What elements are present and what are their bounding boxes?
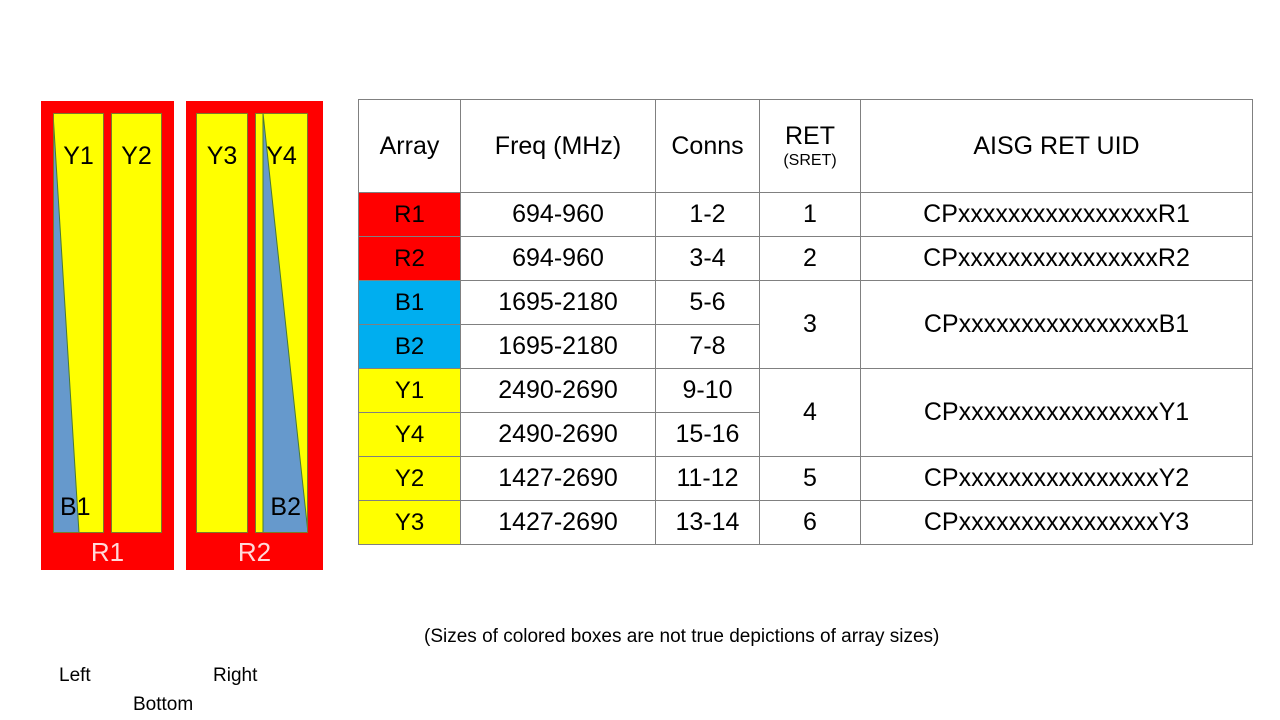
cell-conns: 7-8: [656, 325, 760, 369]
cell-conns: 9-10: [656, 369, 760, 413]
column-header-freq: Freq (MHz): [461, 100, 656, 193]
cell-ret: 2: [760, 237, 861, 281]
cell-conns: 11-12: [656, 457, 760, 501]
column-header-freq-label: Freq (MHz): [495, 132, 621, 160]
array-label-y1: Y1: [54, 144, 103, 169]
array-label-b1: B1: [60, 495, 91, 520]
cell-conns: 15-16: [656, 413, 760, 457]
array-label-y2: Y2: [112, 144, 161, 169]
column-header-array: Array: [359, 100, 461, 193]
array-column-y1: Y1 B1: [53, 113, 104, 533]
antenna-array-diagram: Y1 B1 Y2 R1 Y3 Y4 B2 R2: [41, 101, 323, 570]
b2-triangle-shape: [255, 113, 308, 533]
aisg-ret-uid-table: Array Freq (MHz) Conns RET (SRET) AISG R…: [358, 99, 1253, 545]
cell-freq: 2490-2690: [461, 413, 656, 457]
cell-uid: CPxxxxxxxxxxxxxxxxY1: [861, 369, 1253, 457]
table-row: Y21427-269011-125CPxxxxxxxxxxxxxxxxY2: [359, 457, 1253, 501]
orientation-label-left: Left: [59, 665, 91, 687]
cell-conns: 3-4: [656, 237, 760, 281]
cell-freq: 1427-2690: [461, 501, 656, 545]
cell-uid: CPxxxxxxxxxxxxxxxxR1: [861, 193, 1253, 237]
table-header-row: Array Freq (MHz) Conns RET (SRET) AISG R…: [359, 100, 1253, 193]
cell-freq: 1695-2180: [461, 281, 656, 325]
cell-conns: 13-14: [656, 501, 760, 545]
cell-freq: 2490-2690: [461, 369, 656, 413]
cell-freq: 694-960: [461, 193, 656, 237]
column-header-uid-label: AISG RET UID: [973, 132, 1139, 160]
column-header-conns-label: Conns: [671, 132, 743, 160]
array-column-y2: Y2: [111, 113, 162, 533]
column-header-uid: AISG RET UID: [861, 100, 1253, 193]
b1-triangle-shape: [53, 113, 104, 533]
cell-uid: CPxxxxxxxxxxxxxxxxR2: [861, 237, 1253, 281]
orientation-label-right: Right: [213, 665, 257, 687]
cell-array: Y1: [359, 369, 461, 413]
orientation-label-bottom: Bottom: [133, 694, 193, 716]
cell-conns: 5-6: [656, 281, 760, 325]
array-label-r2: R2: [186, 537, 323, 567]
column-header-array-label: Array: [380, 132, 440, 160]
column-header-ret-label: RET: [785, 122, 835, 150]
cell-freq: 1427-2690: [461, 457, 656, 501]
cell-ret: 6: [760, 501, 861, 545]
cell-ret: 5: [760, 457, 861, 501]
column-header-ret-sublabel: (SRET): [760, 151, 860, 171]
cell-freq: 1695-2180: [461, 325, 656, 369]
cell-array: Y3: [359, 501, 461, 545]
array-column-y3: Y3: [196, 113, 248, 533]
cell-uid: CPxxxxxxxxxxxxxxxxY3: [861, 501, 1253, 545]
cell-array: Y4: [359, 413, 461, 457]
table-row: R1694-9601-21CPxxxxxxxxxxxxxxxxR1: [359, 193, 1253, 237]
table-body: R1694-9601-21CPxxxxxxxxxxxxxxxxR1R2694-9…: [359, 193, 1253, 545]
cell-array: R2: [359, 237, 461, 281]
cell-ret: 4: [760, 369, 861, 457]
array-label-b2: B2: [270, 495, 301, 520]
cell-uid: CPxxxxxxxxxxxxxxxxY2: [861, 457, 1253, 501]
column-header-conns: Conns: [656, 100, 760, 193]
cell-array: Y2: [359, 457, 461, 501]
column-header-ret: RET (SRET): [760, 100, 861, 193]
diagram-caption: (Sizes of colored boxes are not true dep…: [424, 625, 939, 649]
antenna-panel-left: Y1 B1 Y2 R1: [41, 101, 174, 570]
table-row: B11695-21805-63CPxxxxxxxxxxxxxxxxB1: [359, 281, 1253, 325]
table-row: R2694-9603-42CPxxxxxxxxxxxxxxxxR2: [359, 237, 1253, 281]
array-label-y4: Y4: [256, 144, 307, 169]
table-row: Y31427-269013-146CPxxxxxxxxxxxxxxxxY3: [359, 501, 1253, 545]
antenna-panel-right: Y3 Y4 B2 R2: [186, 101, 323, 570]
array-label-r1: R1: [41, 537, 174, 567]
array-label-y3: Y3: [197, 144, 247, 169]
table-row: Y12490-26909-104CPxxxxxxxxxxxxxxxxY1: [359, 369, 1253, 413]
cell-array: B1: [359, 281, 461, 325]
cell-array: B2: [359, 325, 461, 369]
cell-conns: 1-2: [656, 193, 760, 237]
cell-freq: 694-960: [461, 237, 656, 281]
cell-ret: 3: [760, 281, 861, 369]
cell-uid: CPxxxxxxxxxxxxxxxxB1: [861, 281, 1253, 369]
cell-array: R1: [359, 193, 461, 237]
cell-ret: 1: [760, 193, 861, 237]
array-column-y4: Y4 B2: [255, 113, 308, 533]
